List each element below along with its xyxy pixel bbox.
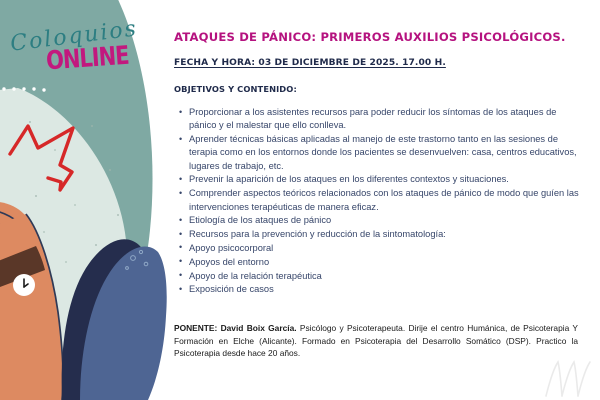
content-column: ATAQUES DE PÁNICO: PRIMEROS AUXILIOS PSI…	[172, 0, 584, 400]
list-item: Etiología de los ataques de pánico	[178, 214, 580, 227]
list-item: Proporcionar a los asistentes recursos p…	[178, 106, 580, 133]
event-datetime: FECHA Y HORA: 03 DE DICIEMBRE DE 2025. 1…	[174, 58, 574, 68]
objectives-heading: OBJETIVOS Y CONTENIDO:	[174, 84, 297, 94]
page-title: ATAQUES DE PÁNICO: PRIMEROS AUXILIOS PSI…	[174, 30, 574, 44]
list-item: Aprender técnicas básicas aplicadas al m…	[178, 133, 580, 173]
speaker-name: David Boix García.	[221, 323, 297, 333]
list-item: Recursos para la prevención y reducción …	[178, 228, 580, 241]
poster-canvas: Coloquios ONLINE ATAQUES DE PÁNICO: PRIM…	[0, 0, 600, 400]
illustration-panel	[0, 0, 170, 400]
objectives-list: Proporcionar a los asistentes recursos p…	[178, 106, 580, 297]
list-item: Apoyos del entorno	[178, 256, 580, 269]
list-item: Apoyo de la relación terapéutica	[178, 270, 580, 283]
list-item: Comprender aspectos teóricos relacionado…	[178, 187, 580, 214]
speaker-paragraph: PONENTE: David Boix García. Psicólogo y …	[174, 322, 578, 360]
speaker-label: PONENTE:	[174, 323, 217, 333]
list-item: Exposición de casos	[178, 283, 580, 296]
list-item: Prevenir la aparición de los ataques en …	[178, 173, 580, 186]
list-item: Apoyo psicocorporal	[178, 242, 580, 255]
